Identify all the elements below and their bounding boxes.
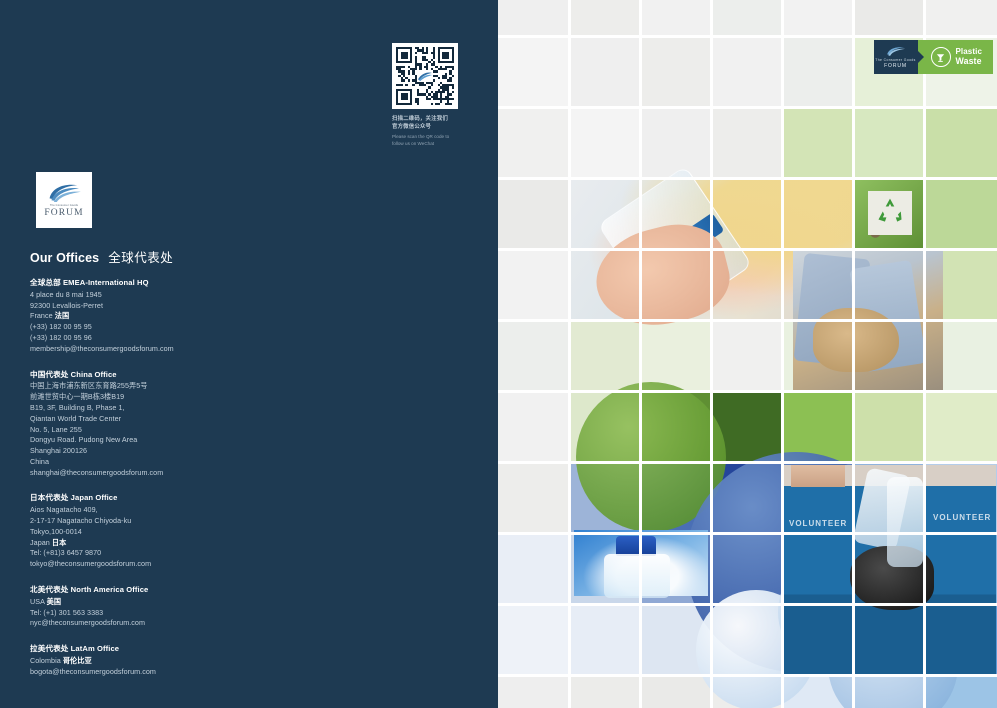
mosaic-tile xyxy=(925,676,997,708)
mosaic-tile xyxy=(641,321,712,392)
offices-latam: 拉美代表处 LatAm OfficeColombia 哥伦比亚bogota@th… xyxy=(30,643,330,677)
cgf-swoosh-icon xyxy=(885,46,907,57)
mosaic-tile xyxy=(783,37,854,108)
mosaic-tile xyxy=(854,676,925,708)
mosaic-tile xyxy=(570,392,641,463)
mosaic-tile xyxy=(783,108,854,179)
qr-frame xyxy=(392,43,458,109)
mosaic-tile xyxy=(712,0,783,37)
mosaic-tile xyxy=(712,463,783,534)
cover-badges: The Consumer Goods FORUM Plastic Waste xyxy=(874,40,994,74)
office-detail-line: China xyxy=(30,457,330,468)
office-detail-line: (+33) 182 00 95 96 xyxy=(30,333,330,344)
mosaic-tile xyxy=(498,392,570,463)
back-cover-panel: 扫描二维码，关注我们 官方微信公众号 Please scan the QR co… xyxy=(0,0,498,708)
wechat-qr-block: 扫描二维码，关注我们 官方微信公众号 Please scan the QR co… xyxy=(392,43,458,148)
office-title: 日本代表处 Japan Office xyxy=(30,492,330,504)
office-detail-line: Colombia 哥伦比亚 xyxy=(30,656,330,667)
mosaic-tile xyxy=(641,463,712,534)
office-detail-line: No. 5, Lane 255 xyxy=(30,425,330,436)
mosaic-tile xyxy=(641,0,712,37)
mosaic-tile xyxy=(641,605,712,676)
office-detail-line: 2-17-17 Nagatacho Chiyoda-ku xyxy=(30,516,330,527)
photo-mosaic: VOLUNTEERVOLUNTEER xyxy=(498,0,997,708)
office-title: 拉美代表处 LatAm Office xyxy=(30,643,330,655)
office-detail-line: 中国上海市浦东新区东育路255弄5号 xyxy=(30,381,330,392)
mosaic-tile xyxy=(570,463,641,534)
office-detail-line: France 法国 xyxy=(30,311,330,322)
mosaic-tile xyxy=(570,0,641,37)
qr-caption-english: Please scan the QR code to follow us on … xyxy=(392,134,458,147)
plastic-waste-circle-icon xyxy=(931,47,951,67)
mosaic-tile xyxy=(712,605,783,676)
office-title: 北美代表处 North America Office xyxy=(30,584,330,596)
offices-china: 中国代表处 China Office中国上海市浦东新区东育路255弄5号前滩世贸… xyxy=(30,369,330,479)
mosaic-tile xyxy=(498,605,570,676)
front-cover-panel: VOLUNTEERVOLUNTEER The Consumer Goods FO… xyxy=(498,0,997,708)
office-detail-line: (+33) 182 00 95 95 xyxy=(30,322,330,333)
mosaic-tile xyxy=(925,179,997,250)
mosaic-tile xyxy=(498,179,570,250)
mosaic-tile xyxy=(641,108,712,179)
mosaic-tile xyxy=(498,0,570,37)
office-detail-line: B19, 3F, Building B, Phase 1, xyxy=(30,403,330,414)
recycle-symbol-icon xyxy=(868,191,912,235)
qr-caption-chinese: 扫描二维码，关注我们 官方微信公众号 xyxy=(392,115,458,131)
volunteer-shirt-text: VOLUNTEER xyxy=(789,519,847,528)
badge-cgf-wordmark: FORUM xyxy=(884,63,907,69)
mosaic-tile xyxy=(925,392,997,463)
badge-plastic-waste-text: Plastic Waste xyxy=(956,48,983,66)
mosaic-tile xyxy=(925,108,997,179)
office-detail-line: Tel: (+81)3 6457 9870 xyxy=(30,548,330,559)
badge-cgf: The Consumer Goods FORUM xyxy=(874,40,918,74)
our-offices-heading-cn: 全球代表处 xyxy=(108,247,173,266)
office-detail-line: Japan 日本 xyxy=(30,538,330,549)
our-offices-heading: Our Offices 全球代表处 xyxy=(30,247,173,266)
office-detail-line: Shanghai 200126 xyxy=(30,446,330,457)
mosaic-tile xyxy=(570,321,641,392)
office-detail-line[interactable]: tokyo@theconsumergoodsforum.com xyxy=(30,559,330,570)
badge-plastic-waste: Plastic Waste xyxy=(918,40,994,74)
mosaic-tile xyxy=(498,250,570,321)
badge-cgf-tagline: The Consumer Goods xyxy=(875,58,916,62)
mosaic-tile xyxy=(925,0,997,37)
office-detail-line[interactable]: bogota@theconsumergoodsforum.com xyxy=(30,667,330,678)
paper-waste-shape xyxy=(813,308,899,372)
office-detail-line[interactable]: nyc@theconsumergoodsforum.com xyxy=(30,618,330,629)
brochure-cover-spread: 扫描二维码，关注我们 官方微信公众号 Please scan the QR co… xyxy=(0,0,997,708)
mosaic-tile xyxy=(712,392,783,463)
our-offices-heading-en: Our Offices xyxy=(30,251,99,265)
clear-bottle-shape xyxy=(887,477,923,567)
mosaic-tile xyxy=(783,392,854,463)
mosaic-tile xyxy=(498,676,570,708)
offices-north-america: 北美代表处 North America OfficeUSA 美国Tel: (+1… xyxy=(30,584,330,629)
mosaic-tile xyxy=(854,0,925,37)
office-title: 全球总部 EMEA-International HQ xyxy=(30,277,330,289)
mosaic-tile xyxy=(641,676,712,708)
office-detail-line: 92300 Levallois-Perret xyxy=(30,301,330,312)
cgf-wordmark: FORUM xyxy=(44,209,83,219)
office-detail-line: 前滩世贸中心一期B栋3楼B19 xyxy=(30,392,330,403)
mosaic-tile xyxy=(641,37,712,108)
mosaic-tile xyxy=(570,605,641,676)
mosaic-tile xyxy=(570,37,641,108)
mosaic-tile xyxy=(712,108,783,179)
badge-plastic-line2: Waste xyxy=(956,57,983,66)
mosaic-tile xyxy=(570,676,641,708)
mosaic-tile xyxy=(498,108,570,179)
mosaic-tile xyxy=(712,676,783,708)
office-detail-line: Tel: (+1) 301 563 3383 xyxy=(30,608,330,619)
offices-emea: 全球总部 EMEA-International HQ4 place du 8 m… xyxy=(30,277,330,355)
mosaic-tile xyxy=(712,534,783,605)
bottle-cap-blue xyxy=(616,536,656,556)
mosaic-tile xyxy=(498,463,570,534)
offices-japan: 日本代表处 Japan OfficeAios Nagatacho 409,2-1… xyxy=(30,492,330,570)
office-detail-line: 4 place du 8 mai 1945 xyxy=(30,290,330,301)
cgf-swoosh-icon xyxy=(46,182,82,204)
offices-list: 全球总部 EMEA-International HQ4 place du 8 m… xyxy=(30,277,330,692)
bottle-body-clear xyxy=(604,554,670,598)
office-detail-line[interactable]: shanghai@theconsumergoodsforum.com xyxy=(30,468,330,479)
mosaic-tile xyxy=(783,676,854,708)
qr-code-icon xyxy=(396,47,454,105)
office-title: 中国代表处 China Office xyxy=(30,369,330,381)
mosaic-tile xyxy=(854,108,925,179)
office-detail-line: Dongyu Road. Pudong New Area xyxy=(30,435,330,446)
mosaic-tile xyxy=(498,534,570,605)
mosaic-tile xyxy=(854,392,925,463)
mosaic-tile xyxy=(498,37,570,108)
office-detail-line: Aios Nagatacho 409, xyxy=(30,505,330,516)
volunteer-shirt-text: VOLUNTEER xyxy=(933,513,991,522)
mosaic-tile xyxy=(641,392,712,463)
mosaic-tile xyxy=(498,321,570,392)
mosaic-tile xyxy=(712,37,783,108)
mosaic-tile xyxy=(712,321,783,392)
office-detail-line: Tokyo,100-0014 xyxy=(30,527,330,538)
cgf-logo: The Consumer Goods FORUM xyxy=(36,172,92,228)
office-detail-line: USA 美国 xyxy=(30,597,330,608)
mosaic-tile xyxy=(783,0,854,37)
mosaic-tile xyxy=(570,108,641,179)
office-detail-line[interactable]: membership@theconsumergoodsforum.com xyxy=(30,344,330,355)
volunteer-head-shape xyxy=(791,465,845,487)
office-detail-line: Qiantan World Trade Center xyxy=(30,414,330,425)
